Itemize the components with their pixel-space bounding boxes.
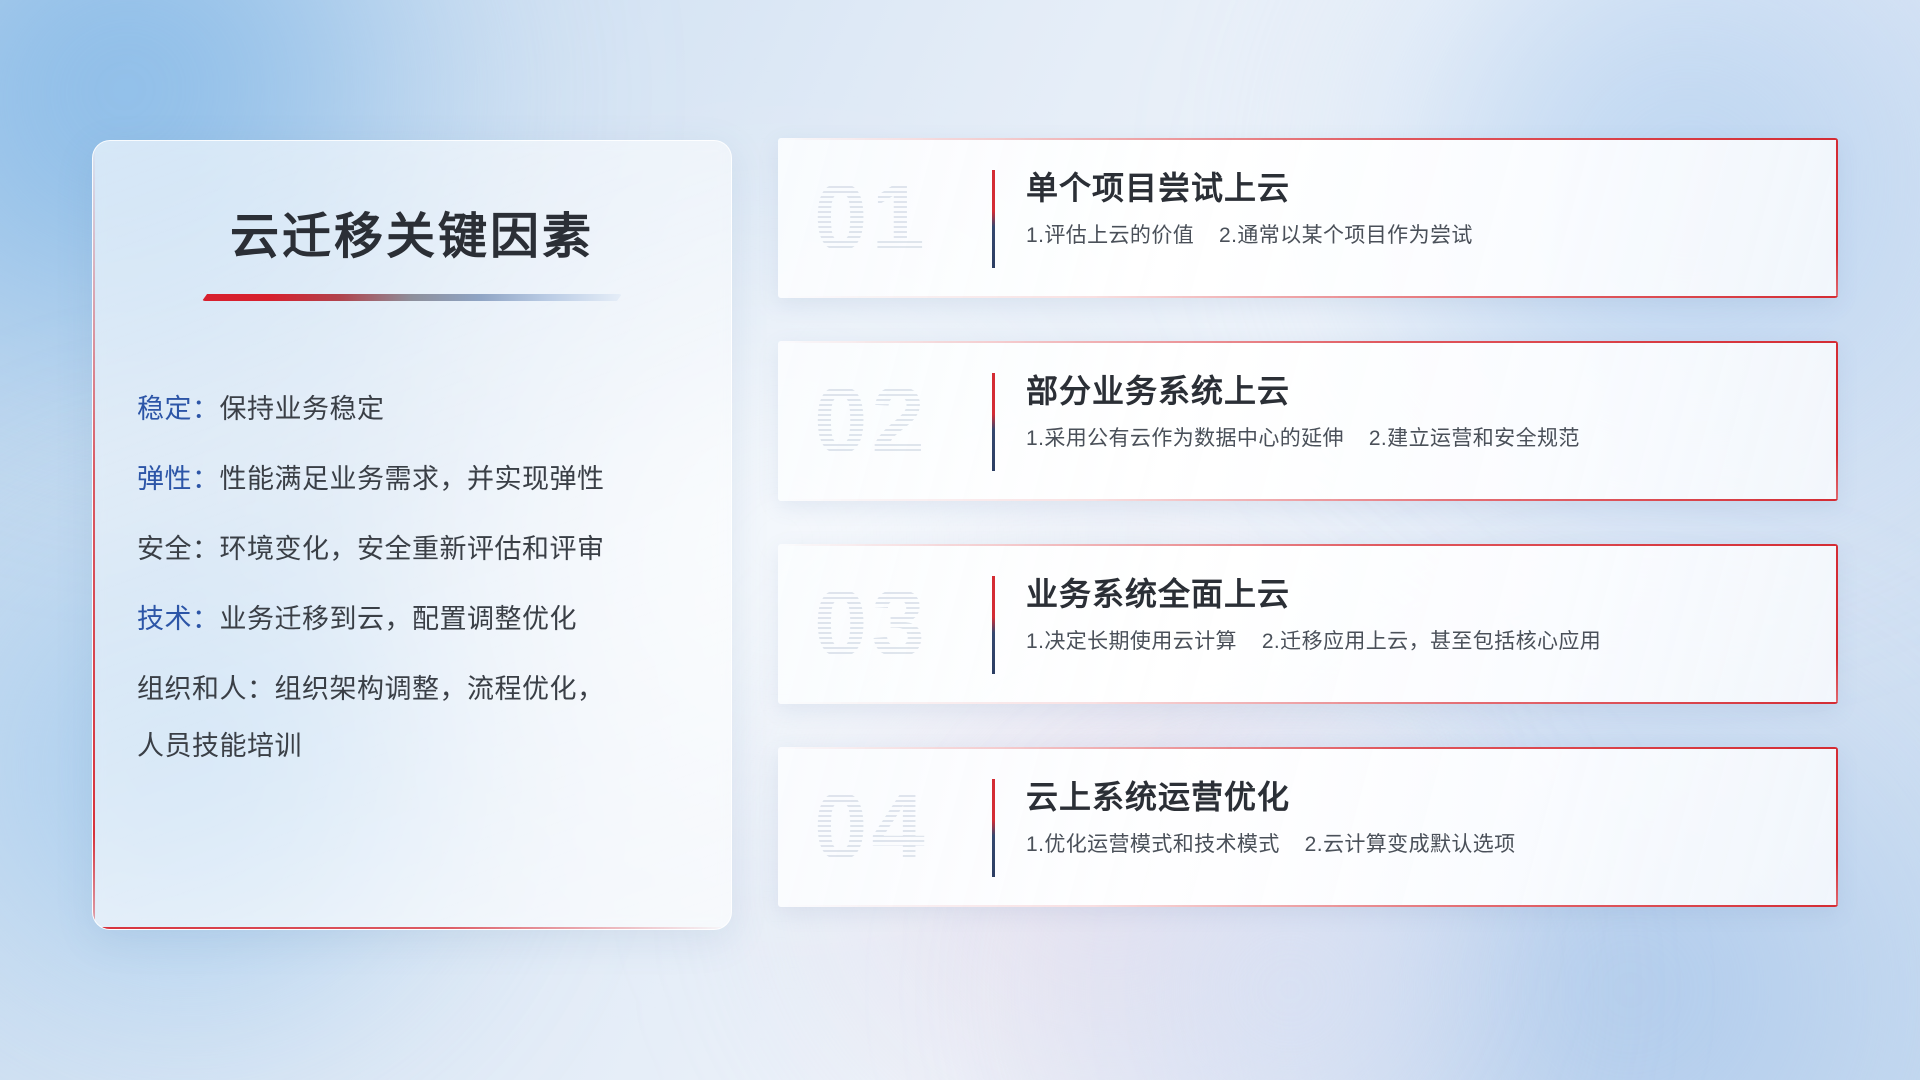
- list-item: 组织和人：组织架构调整，流程优化， 人员技能培训: [137, 673, 731, 763]
- card-accent-right: [1836, 747, 1838, 907]
- card-accent-bottom: [778, 499, 1838, 501]
- factor-value: 组织架构调整，流程优化，: [275, 674, 605, 704]
- step-title: 业务系统全面上云: [1026, 574, 1798, 614]
- card-accent-bottom: [778, 905, 1838, 907]
- card-accent-top: [778, 544, 1838, 546]
- step-text-block: 部分业务系统上云 1.采用公有云作为数据中心的延伸 2.建立运营和安全规范: [1026, 371, 1798, 452]
- step-number-watermark: 04: [814, 772, 929, 882]
- factor-value-continuation: 人员技能培训: [137, 730, 731, 763]
- title-underline-gradient: [202, 294, 622, 301]
- list-item: 技术：业务迁移到云，配置调整优化: [137, 603, 731, 636]
- step-subtitle: 1.决定长期使用云计算 2.迁移应用上云，甚至包括核心应用: [1026, 628, 1798, 655]
- card-accent-top: [778, 138, 1838, 140]
- step-text-block: 云上系统运营优化 1.优化运营模式和技术模式 2.云计算变成默认选项: [1026, 777, 1798, 858]
- list-item: 安全：环境变化，安全重新评估和评审: [137, 533, 731, 566]
- factor-label: 弹性：: [137, 464, 220, 494]
- factor-value: 环境变化，安全重新评估和评审: [220, 534, 605, 564]
- step-text-block: 业务系统全面上云 1.决定长期使用云计算 2.迁移应用上云，甚至包括核心应用: [1026, 574, 1798, 655]
- step-number-watermark: 01: [814, 163, 929, 273]
- step-text-block: 单个项目尝试上云 1.评估上云的价值 2.通常以某个项目作为尝试: [1026, 168, 1798, 249]
- page-title: 云迁移关键因素: [93, 197, 731, 268]
- step-divider-bar: [992, 373, 995, 471]
- step-card-02[interactable]: 02 部分业务系统上云 1.采用公有云作为数据中心的延伸 2.建立运营和安全规范: [778, 341, 1838, 501]
- factor-list: 稳定：保持业务稳定 弹性：性能满足业务需求，并实现弹性 安全：环境变化，安全重新…: [93, 393, 731, 763]
- step-subtitle: 1.评估上云的价值 2.通常以某个项目作为尝试: [1026, 222, 1798, 249]
- key-factors-panel: 云迁移关键因素 稳定：保持业务稳定 弹性：性能满足业务需求，并实现弹性 安全：环…: [92, 140, 732, 930]
- factor-value: 保持业务稳定: [220, 394, 385, 424]
- migration-steps-list: 01 单个项目尝试上云 1.评估上云的价值 2.通常以某个项目作为尝试 02 部…: [778, 138, 1838, 907]
- factor-label: 技术：: [137, 604, 220, 634]
- step-title: 部分业务系统上云: [1026, 371, 1798, 411]
- step-title: 云上系统运营优化: [1026, 777, 1798, 817]
- step-subtitle: 1.优化运营模式和技术模式 2.云计算变成默认选项: [1026, 831, 1798, 858]
- card-accent-right: [1836, 341, 1838, 501]
- card-accent-bottom: [778, 702, 1838, 704]
- card-accent-bottom: [778, 296, 1838, 298]
- card-accent-right: [1836, 138, 1838, 298]
- step-card-03[interactable]: 03 业务系统全面上云 1.决定长期使用云计算 2.迁移应用上云，甚至包括核心应…: [778, 544, 1838, 704]
- factor-value: 性能满足业务需求，并实现弹性: [220, 464, 605, 494]
- list-item: 弹性：性能满足业务需求，并实现弹性: [137, 463, 731, 496]
- step-title: 单个项目尝试上云: [1026, 168, 1798, 208]
- card-accent-top: [778, 341, 1838, 343]
- step-divider-bar: [992, 170, 995, 268]
- step-card-01[interactable]: 01 单个项目尝试上云 1.评估上云的价值 2.通常以某个项目作为尝试: [778, 138, 1838, 298]
- card-accent-right: [1836, 544, 1838, 704]
- step-number-watermark: 02: [814, 366, 929, 476]
- factor-value: 业务迁移到云，配置调整优化: [220, 604, 578, 634]
- card-accent-top: [778, 747, 1838, 749]
- factor-label: 组织和人：: [137, 674, 275, 704]
- step-subtitle: 1.采用公有云作为数据中心的延伸 2.建立运营和安全规范: [1026, 425, 1798, 452]
- step-number-watermark: 03: [814, 569, 929, 679]
- step-divider-bar: [992, 779, 995, 877]
- factor-label: 安全：: [137, 534, 220, 564]
- factor-label: 稳定：: [137, 394, 220, 424]
- step-divider-bar: [992, 576, 995, 674]
- step-card-04[interactable]: 04 云上系统运营优化 1.优化运营模式和技术模式 2.云计算变成默认选项: [778, 747, 1838, 907]
- list-item: 稳定：保持业务稳定: [137, 393, 731, 426]
